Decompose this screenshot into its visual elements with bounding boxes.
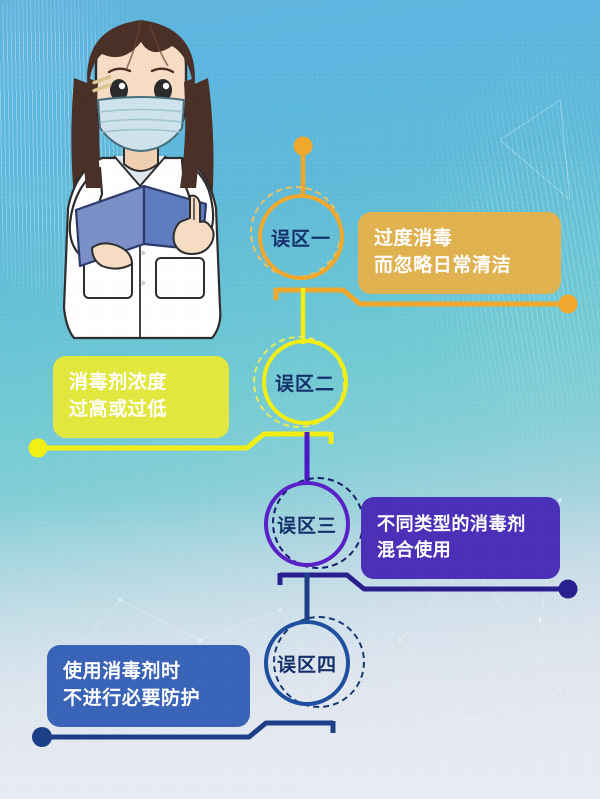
cartoon-doctor-illustration	[40, 8, 245, 353]
callout-step-2[interactable]: 消毒剂浓度 过高或过低	[53, 356, 229, 438]
step-node-1-label: 误区一	[258, 194, 344, 280]
step-node-4-label: 误区四	[264, 620, 350, 706]
callout-step-1-line-2: 而忽略日常清洁	[374, 253, 545, 280]
callout-step-1-line-1: 过度消毒	[374, 226, 545, 253]
infographic-poster: 误区一 误区二 误区三 误区四 过度消毒 而忽略日常清洁 消毒剂浓度 过高或过低…	[0, 0, 600, 799]
step-node-2-label: 误区二	[262, 339, 348, 425]
callout-step-4-line-2: 不进行必要防护	[63, 686, 234, 713]
connector-dot-step3	[559, 580, 578, 599]
connector-dot-step4	[32, 727, 52, 747]
callout-step-2-line-2: 过高或过低	[69, 397, 213, 424]
callout-step-1[interactable]: 过度消毒 而忽略日常清洁	[358, 212, 561, 294]
connector-dot-step1	[559, 295, 578, 314]
connector-dot-step2	[29, 439, 48, 458]
step-node-1[interactable]: 误区一	[258, 194, 344, 280]
callout-step-4[interactable]: 使用消毒剂时 不进行必要防护	[47, 645, 250, 727]
step-node-4[interactable]: 误区四	[264, 620, 350, 706]
step-node-3-label: 误区三	[264, 481, 350, 567]
step-node-3[interactable]: 误区三	[264, 481, 350, 567]
callout-step-2-line-1: 消毒剂浓度	[69, 370, 213, 397]
callout-step-3[interactable]: 不同类型的消毒剂 混合使用	[361, 497, 560, 579]
callout-step-3-line-1: 不同类型的消毒剂	[377, 512, 544, 538]
callout-step-3-line-2: 混合使用	[377, 538, 544, 564]
step-node-2[interactable]: 误区二	[262, 339, 348, 425]
callout-step-4-line-1: 使用消毒剂时	[63, 659, 234, 686]
